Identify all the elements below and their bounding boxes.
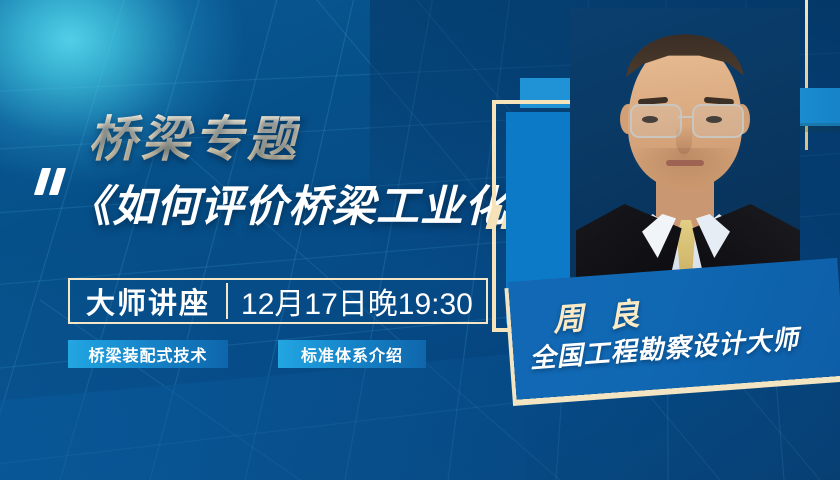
page-title: 桥梁专题 bbox=[88, 100, 300, 171]
lecture-kind-label: 大师讲座 bbox=[70, 280, 226, 322]
topic-tag[interactable]: 标准体系介绍 bbox=[278, 340, 426, 368]
open-quote-icon bbox=[38, 168, 72, 198]
speaker-name-banner: 周 良 全国工程勘察设计大师 bbox=[508, 258, 840, 400]
promo-poster: 桥梁专题 《如何评价桥梁工业化》 大师讲座 12月17日晚19:30 桥梁装配式… bbox=[0, 0, 840, 480]
speaker-composition bbox=[470, 0, 840, 480]
lecture-datetime-label: 12月17日晚19:30 bbox=[228, 280, 486, 322]
lecture-info-bar: 大师讲座 12月17日晚19:30 bbox=[68, 278, 488, 324]
topic-tag[interactable]: 桥梁装配式技术 bbox=[68, 340, 228, 368]
